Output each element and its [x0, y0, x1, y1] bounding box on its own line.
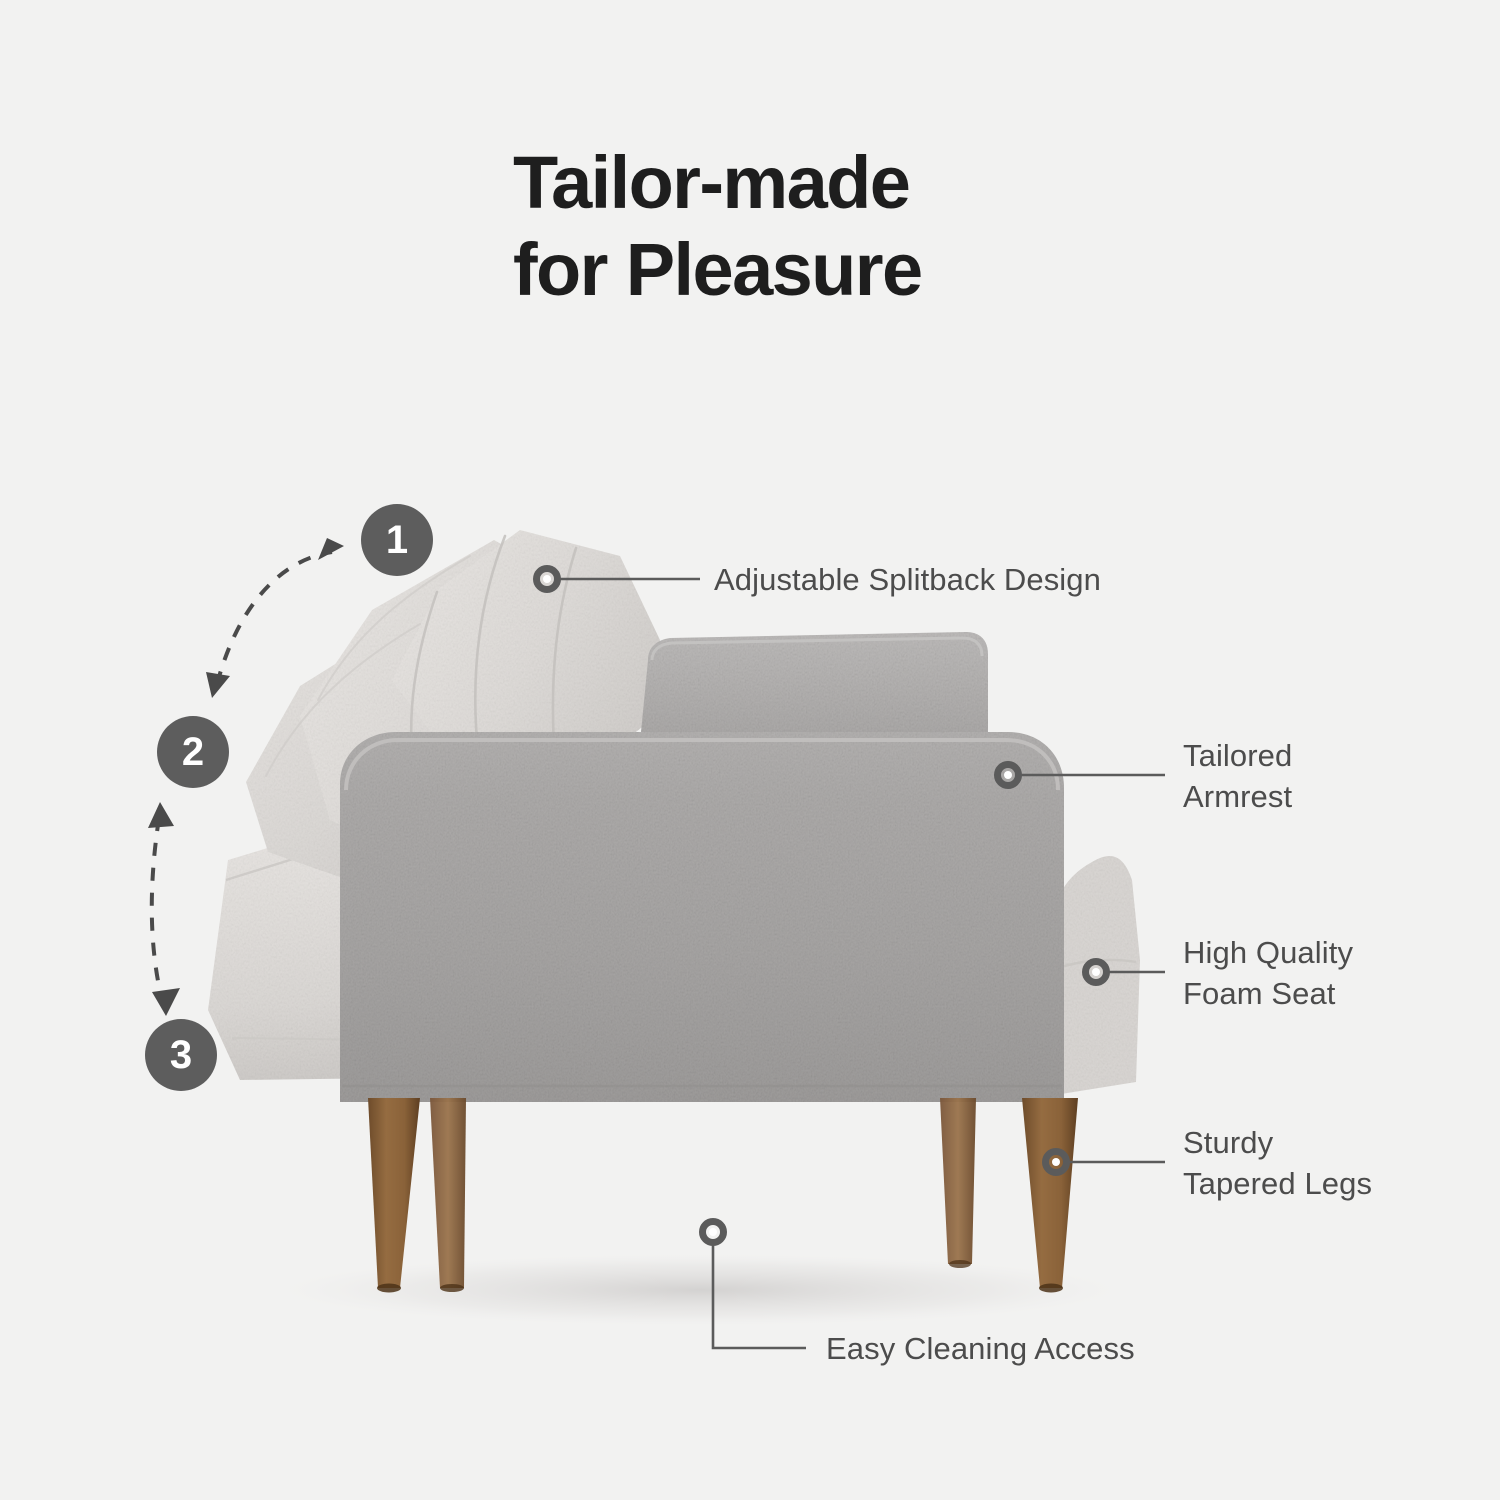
callout-marker-legs — [1046, 1152, 1166, 1173]
step-badge-2[interactable]: 2 — [157, 716, 229, 788]
step-arrow-2-3 — [152, 818, 162, 1000]
step-badge-3[interactable]: 3 — [145, 1019, 217, 1091]
step-badge-1[interactable]: 1 — [361, 504, 433, 576]
step-arrow-1-2 — [217, 552, 332, 684]
callout-label-foam-seat: High Quality Foam Seat — [1183, 933, 1353, 1015]
callout-label-armrest: Tailored Armrest — [1183, 736, 1292, 818]
callout-label-cleaning: Easy Cleaning Access — [826, 1329, 1135, 1370]
callout-label-legs: Sturdy Tapered Legs — [1183, 1123, 1372, 1205]
infographic-canvas: Tailor-made for Pleasure — [0, 0, 1500, 1500]
callout-label-splitback: Adjustable Splitback Design — [714, 560, 1101, 601]
